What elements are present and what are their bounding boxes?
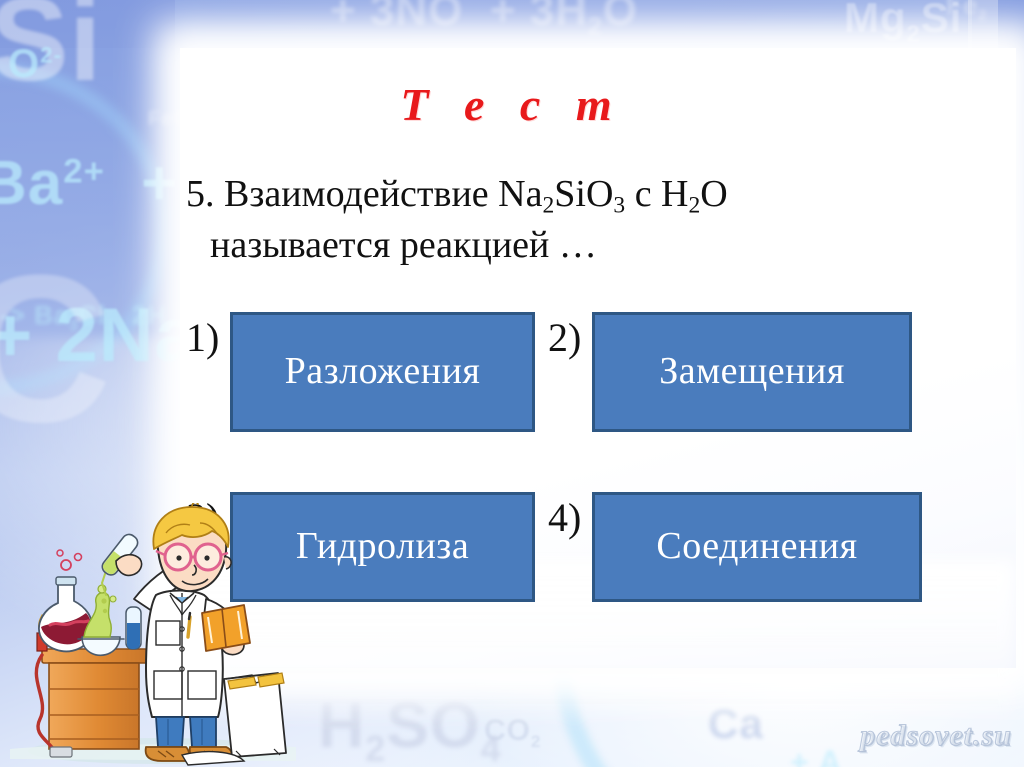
formula-sub-3: 3 (613, 193, 625, 219)
option-2-number: 2) (548, 318, 592, 358)
answer-option-2[interactable]: 2) Замещения (548, 312, 912, 432)
question-line1-pre: Взаимодействие Na (224, 173, 542, 215)
watermark-pedsovet: pedsovet.su (860, 719, 1012, 753)
formula-sub-2a: 2 (542, 193, 554, 219)
question-formula-mid: SiO (554, 173, 613, 215)
question-line1-end: O (700, 173, 727, 215)
formula-sub-2b: 2 (689, 193, 701, 219)
option-4-box[interactable]: Соединения (592, 492, 922, 602)
answer-option-4[interactable]: 4) Соединения (548, 492, 922, 602)
slide-title: Т е с т (0, 78, 1024, 131)
chemist-illustration (6, 503, 298, 767)
slide-content: Т е с т 5. Взаимодействие Na2SiO3 с H2O … (0, 0, 1024, 767)
question-line1-post: с H (625, 173, 688, 215)
option-4-number: 4) (548, 498, 592, 538)
option-2-box[interactable]: Замещения (592, 312, 912, 432)
question-text: 5. Взаимодействие Na2SiO3 с H2O называет… (186, 170, 886, 269)
option-1-box[interactable]: Разложения (230, 312, 535, 432)
answer-option-1[interactable]: 1) Разложения (186, 312, 535, 432)
question-number: 5. (186, 173, 215, 215)
slide-root: Si O2- Ba2+ + 2OH- + 3NO + 3H2O Mg2Si Fe… (0, 0, 1024, 767)
option-1-number: 1) (186, 318, 230, 358)
question-line2: называется реакцией … (186, 221, 886, 270)
